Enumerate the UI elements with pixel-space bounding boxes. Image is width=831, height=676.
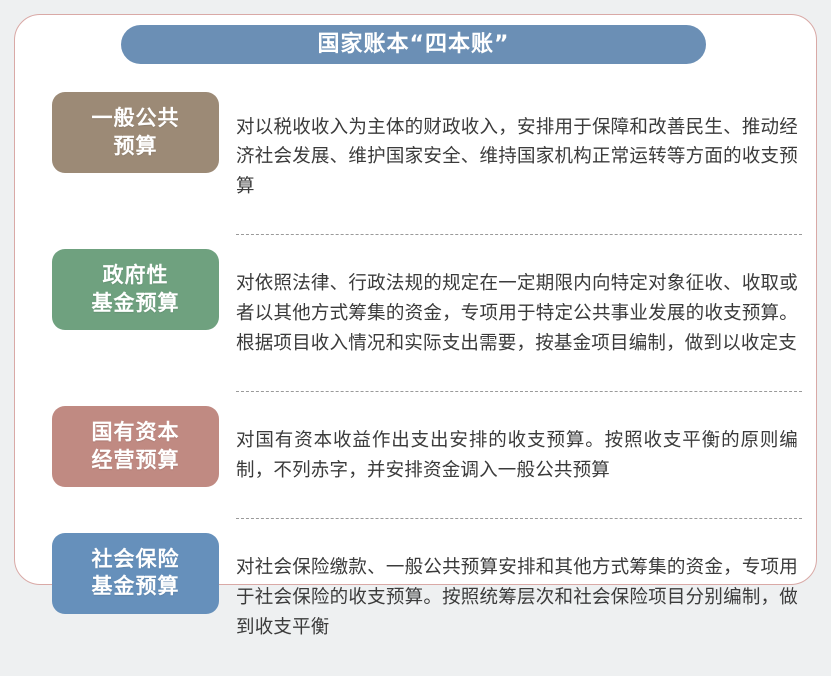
budget-label-line-2: 经营预算 xyxy=(52,447,219,475)
budget-label-line-1: 政府性 xyxy=(52,262,219,290)
budget-label-state-capital: 国有资本 经营预算 xyxy=(52,406,219,487)
budget-description-state-capital: 对国有资本收益作出支出安排的收支预算。按照收支平衡的原则编制，不列赤字，并安排资… xyxy=(236,426,798,486)
description-cell: 对依照法律、行政法规的规定在一定期限内向特定对象征收、收取或者以其他方式筹集的资… xyxy=(236,249,798,378)
budget-label-line-2: 基金预算 xyxy=(52,573,219,601)
title-bar: 国家账本“四本账” xyxy=(121,25,706,64)
label-cell: 社会保险 基金预算 xyxy=(52,533,219,614)
budget-label-line-2: 预算 xyxy=(52,133,219,161)
budget-row-social-insurance: 社会保险 基金预算 对社会保险缴款、一般公共预算安排和其他方式筹集的资金，专项用… xyxy=(15,519,818,676)
budget-label-government-fund: 政府性 基金预算 xyxy=(52,249,219,330)
budget-row-general-public: 一般公共 预算 对以税收收入为主体的财政收入，安排用于保障和改善民生、推动经济社… xyxy=(15,78,818,235)
budget-row-state-capital: 国有资本 经营预算 对国有资本收益作出支出安排的收支预算。按照收支平衡的原则编制… xyxy=(15,392,818,519)
budget-label-line-1: 社会保险 xyxy=(52,546,219,574)
budget-row-government-fund: 政府性 基金预算 对依照法律、行政法规的规定在一定期限内向特定对象征收、收取或者… xyxy=(15,235,818,392)
label-cell: 政府性 基金预算 xyxy=(52,249,219,330)
budget-label-general-public: 一般公共 预算 xyxy=(52,92,219,173)
description-cell: 对国有资本收益作出支出安排的收支预算。按照收支平衡的原则编制，不列赤字，并安排资… xyxy=(236,406,798,505)
budget-label-line-1: 国有资本 xyxy=(52,419,219,447)
budget-description-government-fund: 对依照法律、行政法规的规定在一定期限内向特定对象征收、收取或者以其他方式筹集的资… xyxy=(236,269,798,359)
budget-description-general-public: 对以税收收入为主体的财政收入，安排用于保障和改善民生、推动经济社会发展、维护国家… xyxy=(236,113,798,203)
label-cell: 国有资本 经营预算 xyxy=(52,406,219,487)
budget-label-line-1: 一般公共 xyxy=(52,105,219,133)
label-cell: 一般公共 预算 xyxy=(52,92,219,173)
description-cell: 对以税收收入为主体的财政收入，安排用于保障和改善民生、推动经济社会发展、维护国家… xyxy=(236,92,798,221)
infographic-frame: 国家账本“四本账” 一般公共 预算 对以税收收入为主体的财政收入，安排用于保障和… xyxy=(14,14,817,585)
budget-label-line-2: 基金预算 xyxy=(52,290,219,318)
budget-label-social-insurance: 社会保险 基金预算 xyxy=(52,533,219,614)
page-title: 国家账本“四本账” xyxy=(318,34,510,56)
budget-rows-container: 一般公共 预算 对以税收收入为主体的财政收入，安排用于保障和改善民生、推动经济社… xyxy=(15,78,818,676)
budget-description-social-insurance: 对社会保险缴款、一般公共预算安排和其他方式筹集的资金，专项用于社会保险的收支预算… xyxy=(236,553,798,643)
description-cell: 对社会保险缴款、一般公共预算安排和其他方式筹集的资金，专项用于社会保险的收支预算… xyxy=(236,533,798,662)
